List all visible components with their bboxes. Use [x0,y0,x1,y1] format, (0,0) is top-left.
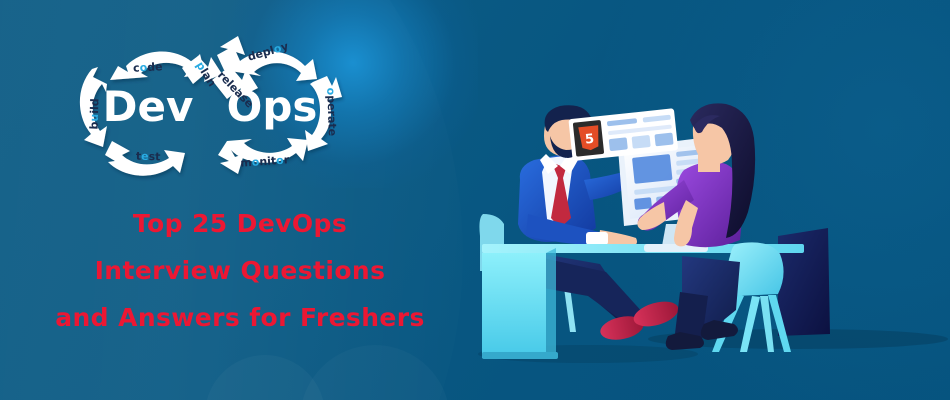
logo-label-build: build [87,98,101,130]
headline: Top 25 DevOps Interview Questions and An… [0,200,480,341]
interview-illustration: 5 [468,96,950,386]
devops-logo: Dev Ops code build test plan release dep… [62,22,362,197]
headline-line-2: Interview Questions [0,247,480,294]
logo-label-code: code [133,60,163,75]
logo-dev-text: Dev [103,82,194,131]
logo-label-operate: operate [324,87,339,136]
headline-line-1: Top 25 DevOps [0,200,480,247]
logo-label-monitor: monitor [240,153,290,169]
headline-line-3: and Answers for Freshers [0,294,480,341]
svg-text:5: 5 [584,132,595,148]
logo-label-test: test [136,150,161,164]
devops-banner: Dev Ops code build test plan release dep… [0,0,950,400]
